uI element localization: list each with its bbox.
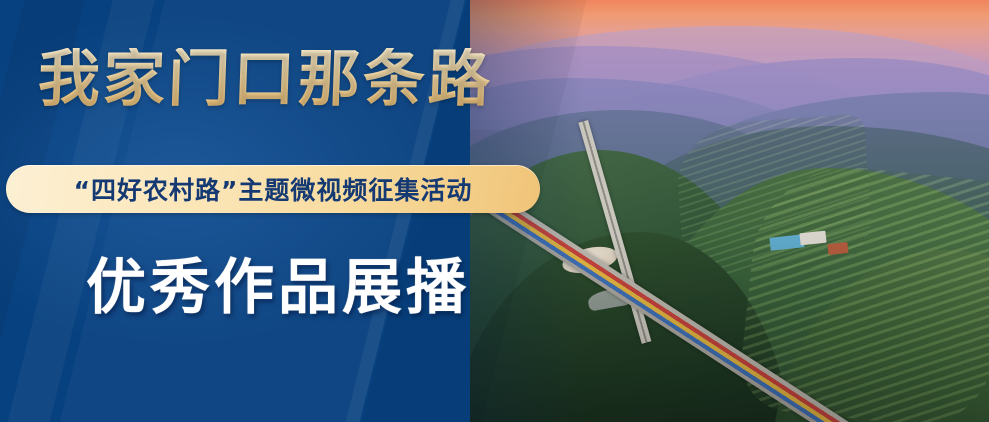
showcase-title: 优秀作品展播 xyxy=(86,258,470,318)
promo-banner: 我家门口那条路 “四好农村路”主题微视频征集活动 优秀作品展播 xyxy=(0,0,989,422)
subtitle-text: “四好农村路”主题微视频征集活动 xyxy=(74,171,473,207)
main-title: 我家门口那条路 xyxy=(37,48,494,110)
subtitle-pill: “四好农村路”主题微视频征集活动 xyxy=(6,165,540,213)
headline-content: 我家门口那条路 “四好农村路”主题微视频征集活动 优秀作品展播 xyxy=(0,0,560,422)
